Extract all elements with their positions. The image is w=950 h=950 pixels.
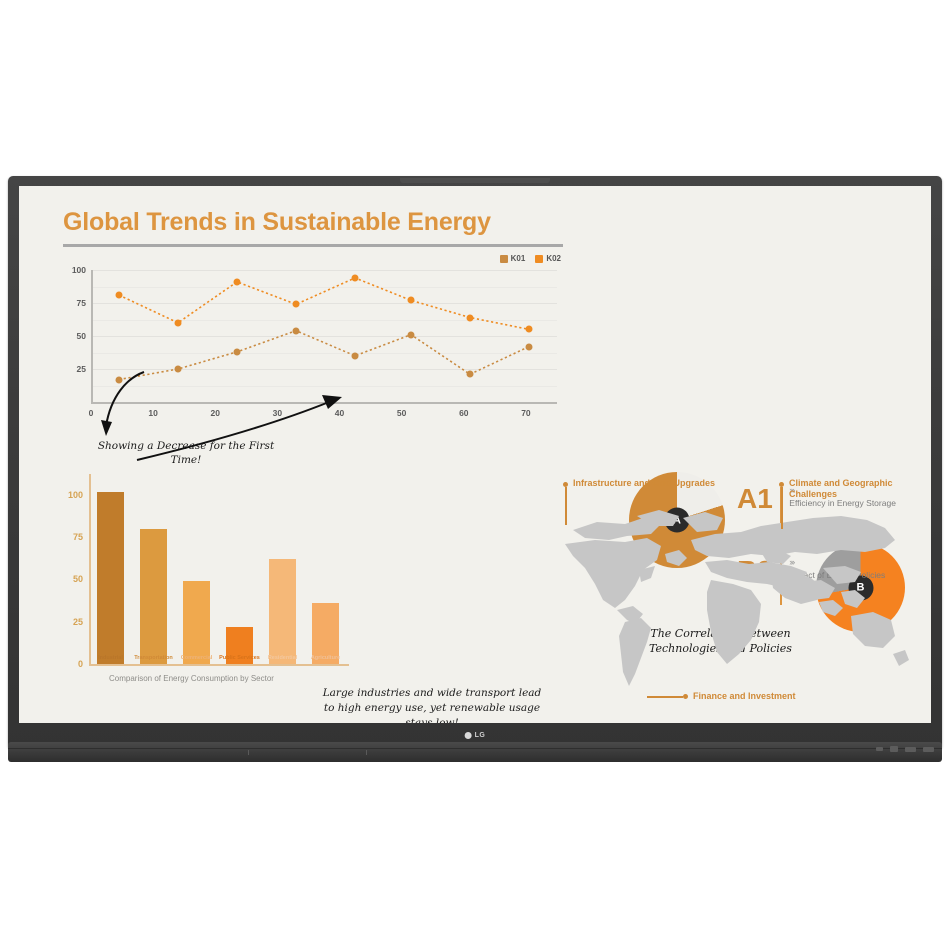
legend-swatch-k02 [535, 255, 543, 263]
callout-label-climate: Climate and Geographic Challenges [789, 478, 909, 500]
data-point [234, 348, 241, 355]
y-axis-tick-label: 50 [77, 331, 86, 341]
x-axis-tick-label: 70 [521, 408, 530, 418]
lg-logo-text: LG [475, 732, 486, 739]
data-point [407, 297, 414, 304]
lg-display: Global Trends in Sustainable Energy K01 … [8, 176, 942, 760]
callout-label-finance: Finance and Investment [693, 691, 853, 702]
legend-item-k01[interactable]: K01 [500, 254, 526, 263]
bar-chart-y-axis [89, 474, 91, 664]
data-point [407, 331, 414, 338]
presentation-slide: Global Trends in Sustainable Energy K01 … [19, 186, 931, 723]
bar-category-label: Industrial [98, 655, 123, 661]
data-point [174, 319, 181, 326]
title-divider [63, 244, 563, 247]
bar-y-axis-tick-label: 75 [73, 532, 83, 542]
display-screen: Global Trends in Sustainable Energy K01 … [19, 186, 931, 723]
callout-line-infrastructure [565, 487, 567, 525]
bar[interactable] [269, 559, 296, 664]
callout-line-finance [647, 696, 683, 698]
bar-category-label: Commercial [181, 655, 213, 661]
hdmi-port-icon[interactable] [905, 747, 916, 752]
data-point [467, 314, 474, 321]
legend-label-k02: K02 [546, 254, 561, 263]
audio-port-icon[interactable] [876, 747, 883, 751]
bar-chart-plot: 0255075100IndustrialTransportationCommer… [89, 478, 347, 664]
bar[interactable] [97, 492, 124, 664]
data-point [526, 343, 533, 350]
bar-y-axis-tick-label: 25 [73, 617, 83, 627]
x-axis-tick-label: 60 [459, 408, 468, 418]
y-axis-tick-label: 25 [77, 364, 86, 374]
world-map: Infrastructure and Grid Upgrades Climate… [541, 478, 921, 716]
base-seam [8, 748, 942, 749]
callout-dot-finance [683, 694, 688, 699]
base-tick [366, 750, 367, 755]
y-axis-tick-label: 75 [77, 298, 86, 308]
port-cluster[interactable] [876, 746, 934, 752]
data-point [526, 326, 533, 333]
display-base-bar [8, 742, 942, 762]
usb-port-icon[interactable] [890, 746, 898, 752]
bar-category-label: Agriculture [311, 655, 340, 661]
legend-item-k02[interactable]: K02 [535, 254, 561, 263]
bar-category-label: Residential [268, 655, 297, 661]
data-point [234, 278, 241, 285]
legend-label-k01: K01 [511, 254, 526, 263]
data-point [115, 292, 122, 299]
base-tick [248, 750, 249, 755]
line-chart-legend: K01 K02 [500, 254, 561, 263]
bezel-sensor-strip [400, 178, 550, 183]
bar-y-axis-tick-label: 0 [78, 659, 83, 669]
data-point [352, 274, 359, 281]
data-point [293, 327, 300, 334]
bar-category-label: Transportation [134, 655, 173, 661]
bar-category-label: Public Services [219, 655, 260, 661]
lg-logo-dot [465, 732, 472, 739]
bar-y-axis-tick-label: 100 [68, 490, 83, 500]
y-axis-tick-label: 100 [72, 265, 86, 275]
data-point [352, 352, 359, 359]
bar[interactable] [140, 529, 167, 664]
data-point [293, 301, 300, 308]
annotation-arrow-up-right [129, 364, 359, 464]
annotation-industries: Large industries and wide transport lead… [321, 686, 543, 723]
bar-chart: 0255075100IndustrialTransportationCommer… [59, 474, 359, 696]
data-point [467, 371, 474, 378]
bar-y-axis-tick-label: 50 [73, 574, 83, 584]
hdmi-port-icon[interactable] [923, 747, 934, 752]
lg-logo: LG [465, 732, 486, 739]
bar[interactable] [183, 581, 210, 664]
world-map-shape [555, 496, 915, 700]
display-bezel: Global Trends in Sustainable Energy K01 … [8, 176, 942, 750]
bar-chart-x-axis [89, 664, 349, 666]
callout-line-climate [781, 487, 783, 529]
legend-swatch-k01 [500, 255, 508, 263]
callout-label-infrastructure: Infrastructure and Grid Upgrades [573, 478, 803, 489]
screenshot-root: Global Trends in Sustainable Energy K01 … [0, 0, 950, 950]
bar-chart-caption: Comparison of Energy Consumption by Sect… [109, 674, 274, 683]
page-title: Global Trends in Sustainable Energy [63, 208, 491, 237]
x-axis-tick-label: 50 [397, 408, 406, 418]
